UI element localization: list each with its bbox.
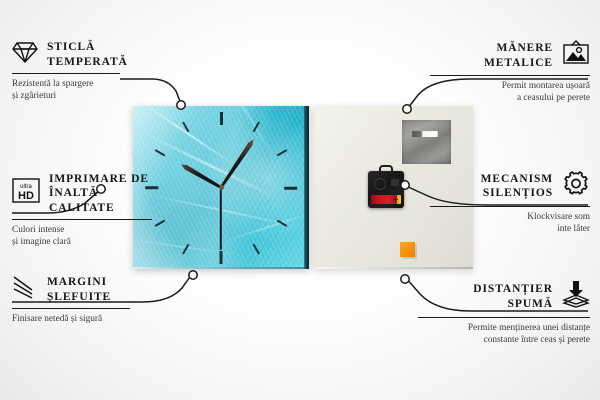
callout-rule (430, 75, 590, 76)
callout-desc-line2: inte låter (557, 224, 590, 234)
callout-title-line1: MARGINI (47, 276, 107, 288)
callout-title-line1: MECANISM (481, 173, 553, 185)
callout-metal-handles: MĂNERE METALICE Permit montarea ușoară a… (430, 40, 590, 105)
callout-title-line1: IMPRIMARE DE (49, 173, 149, 185)
callout-desc-line1: Permit montarea ușoară (502, 81, 590, 91)
infographic-canvas: STICLĂ TEMPERATĂ Rezistentă la spargere … (0, 0, 600, 400)
callout-desc-line1: Permite menținerea unei distanțe (468, 323, 590, 333)
press-down-icon (562, 280, 590, 313)
callout-foam-spacer: DISTANȚIER SPUMĂ Permite menținerea unei… (418, 280, 590, 347)
picture-hanger-icon (562, 40, 590, 71)
marker-handles (403, 105, 411, 113)
callout-rule (12, 308, 130, 309)
gear-icon (562, 170, 590, 202)
callout-rule (430, 206, 590, 207)
callout-polished-edges: MARGINI ȘLEFUITE Finisare netedă și sigu… (12, 275, 164, 325)
callout-title-line2: SILENȚIOS (483, 187, 553, 199)
marker-tempered-glass (177, 101, 185, 109)
callout-desc-line1: Culori intense (12, 225, 64, 235)
callout-title-line2: ȘLEFUITE (47, 291, 111, 303)
callout-desc-line1: Finisare netedă și sigură (12, 314, 102, 324)
diamond-icon (12, 40, 38, 69)
callout-desc-line1: Rezistentă la spargere (12, 79, 93, 89)
callout-tempered-glass: STICLĂ TEMPERATĂ Rezistentă la spargere … (12, 40, 164, 103)
callout-title-line2: ÎNALTĂ CALITATE (49, 187, 115, 213)
callout-desc-line1: Klockvisare som (527, 212, 590, 222)
callout-title-line1: DISTANȚIER (473, 283, 553, 295)
callout-title-line1: STICLĂ (47, 41, 95, 53)
callout-high-quality-print: ultra HD IMPRIMARE DE ÎNALTĂ CALITATE Cu… (12, 172, 164, 248)
callout-rule (418, 317, 590, 318)
callout-silent-mechanism: MECANISM SILENȚIOS Klockvisare som inte … (430, 170, 590, 236)
ultra-hd-icon: ultra HD (12, 178, 40, 208)
callout-desc-line2: constante între ceas și perete (484, 335, 590, 345)
marker-mechanism (401, 181, 409, 189)
marker-edges (189, 271, 197, 279)
ultra-hd-bottom-text: HD (18, 190, 34, 202)
callout-title-line2: SPUMĂ (508, 298, 553, 310)
diagonal-lines-icon (12, 275, 38, 304)
callout-title-line2: METALICE (484, 57, 553, 69)
callout-desc-line2: și imagine clară (12, 237, 71, 247)
callout-title-line2: TEMPERATĂ (47, 56, 128, 68)
callout-rule (12, 73, 120, 74)
callout-desc-line2: și zgârieturi (12, 91, 56, 101)
marker-spacer (401, 275, 409, 283)
callout-desc-line2: a ceasului pe perete (517, 93, 590, 103)
callout-rule (12, 219, 152, 220)
callout-title-line1: MĂNERE (496, 42, 553, 54)
